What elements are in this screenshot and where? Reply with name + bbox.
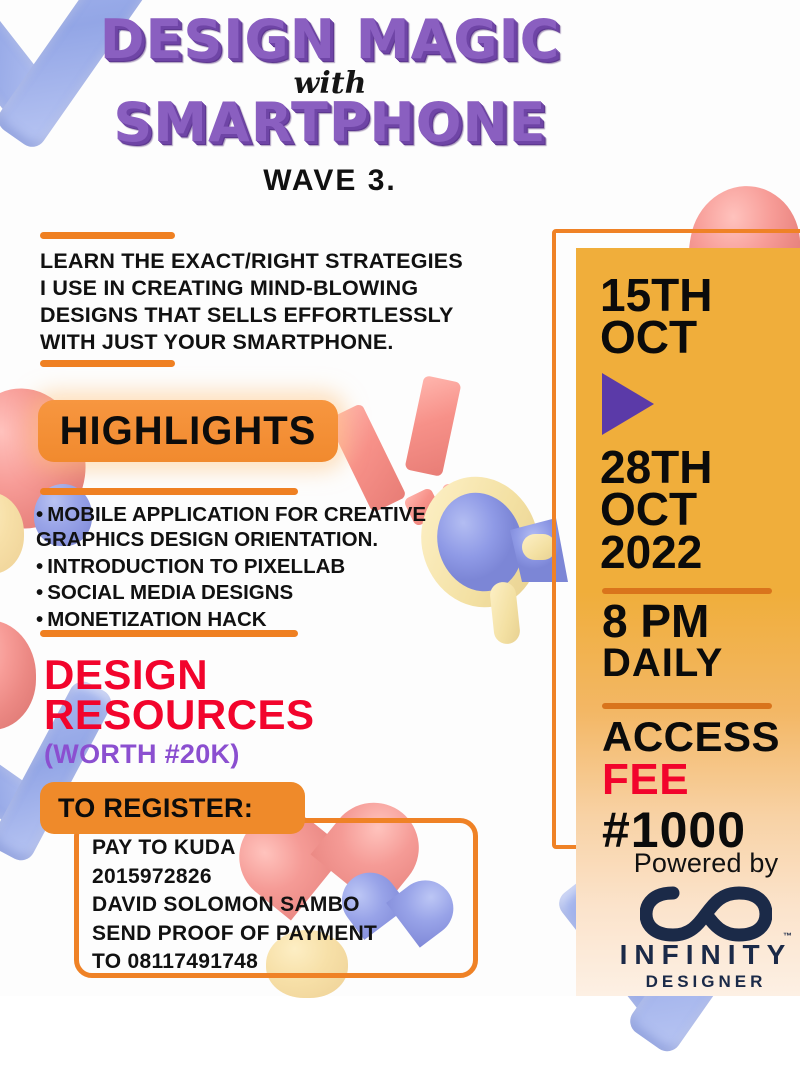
balloon-decoration-pink-far-left bbox=[0, 620, 36, 730]
access-fee-block: ACCESS FEE #1000 bbox=[602, 716, 780, 857]
register-line-2: 2015972826 bbox=[92, 863, 492, 892]
start-date-line-1: 15TH bbox=[600, 274, 712, 316]
highlights-heading-label: HIGHLIGHTS bbox=[60, 409, 317, 454]
powered-by-block: Powered by ™ INFINITY DESIGNER bbox=[576, 848, 800, 992]
bullet-icon: • bbox=[36, 608, 43, 631]
register-line-1: PAY TO KUDA bbox=[92, 834, 492, 863]
balloon-decoration-cream-left bbox=[0, 492, 24, 574]
wave-label: WAVE 3. bbox=[0, 164, 660, 198]
schedule-panel-content: 15TH OCT 28TH OCT 2022 8 PM DAILY ACCESS… bbox=[576, 248, 800, 996]
bullet-icon: • bbox=[36, 503, 43, 526]
lead-line-1: LEARN THE EXACT/RIGHT STRATEGIES bbox=[40, 248, 510, 275]
infinity-icon: ™ bbox=[576, 885, 800, 943]
end-date-line-1: 28TH bbox=[600, 446, 712, 488]
bullet-icon: • bbox=[36, 555, 43, 578]
highlight-item: •MONETIZATION HACK bbox=[36, 607, 506, 632]
bullet-icon: • bbox=[36, 581, 43, 604]
divider-highlights-top bbox=[40, 488, 298, 495]
resources-line-1: DESIGN bbox=[44, 655, 464, 695]
divider-panel-lower bbox=[602, 703, 772, 709]
divider-highlights-bottom bbox=[40, 630, 298, 637]
register-line-3: DAVID SOLOMON SAMBO bbox=[92, 891, 492, 920]
trademark-symbol: ™ bbox=[783, 931, 792, 941]
event-time: 8 PM bbox=[602, 600, 723, 644]
highlight-item: •INTRODUCTION TO PIXELLAB bbox=[36, 554, 506, 579]
highlights-list: •MOBILE APPLICATION FOR CREATIVE GRAPHIC… bbox=[36, 502, 506, 633]
title-line-1: DESIGN MAGIC bbox=[0, 14, 660, 67]
start-date: 15TH OCT bbox=[600, 274, 712, 359]
design-resources-block: DESIGN RESOURCES (WORTH #20K) bbox=[44, 655, 464, 770]
resources-line-2: RESOURCES bbox=[44, 695, 464, 735]
divider-panel-upper bbox=[602, 588, 772, 594]
register-line-5: TO 08117491748 bbox=[92, 948, 492, 977]
register-details-text: PAY TO KUDA2015972826DAVID SOLOMON SAMBO… bbox=[92, 834, 492, 977]
register-line-4: SEND PROOF OF PAYMENT bbox=[92, 920, 492, 949]
event-time-block: 8 PM DAILY bbox=[602, 600, 723, 682]
divider-lead-top bbox=[40, 232, 175, 239]
fee-label: FEE bbox=[602, 758, 780, 802]
lead-line-4: WITH JUST YOUR SMARTPHONE. bbox=[40, 329, 510, 356]
lead-line-3: DESIGNS THAT SELLS EFFORTLESSLY bbox=[40, 302, 510, 329]
highlights-heading-chip: HIGHLIGHTS bbox=[38, 400, 338, 462]
event-frequency: DAILY bbox=[602, 644, 723, 682]
powered-by-label: Powered by bbox=[576, 848, 800, 879]
lead-paragraph: LEARN THE EXACT/RIGHT STRATEGIESI USE IN… bbox=[40, 248, 510, 356]
exclamation-decoration-lower bbox=[327, 403, 407, 513]
poster-title-block: DESIGN MAGIC with SMARTPHONE WAVE 3. bbox=[0, 14, 660, 198]
lead-line-2: I USE IN CREATING MIND-BLOWING bbox=[40, 275, 510, 302]
brand-name: INFINITY bbox=[576, 939, 800, 971]
end-date-line-2: OCT bbox=[600, 488, 712, 530]
to-register-chip: TO REGISTER: bbox=[40, 782, 305, 834]
to-register-label: TO REGISTER: bbox=[58, 793, 253, 824]
exclamation-decoration-upper bbox=[404, 375, 461, 477]
resources-worth-label: (WORTH #20K) bbox=[44, 739, 464, 770]
start-date-line-2: OCT bbox=[600, 316, 712, 358]
end-date-year: 2022 bbox=[600, 531, 712, 573]
access-label: ACCESS bbox=[602, 716, 780, 758]
title-line-2: SMARTPHONE bbox=[0, 97, 660, 150]
highlight-item: •SOCIAL MEDIA DESIGNS bbox=[36, 580, 506, 605]
divider-lead-bottom bbox=[40, 360, 175, 367]
highlight-item: •MOBILE APPLICATION FOR CREATIVE GRAPHIC… bbox=[36, 502, 506, 553]
brand-subtitle: DESIGNER bbox=[576, 972, 800, 992]
end-date: 28TH OCT 2022 bbox=[600, 446, 712, 573]
play-triangle-icon bbox=[602, 373, 654, 435]
